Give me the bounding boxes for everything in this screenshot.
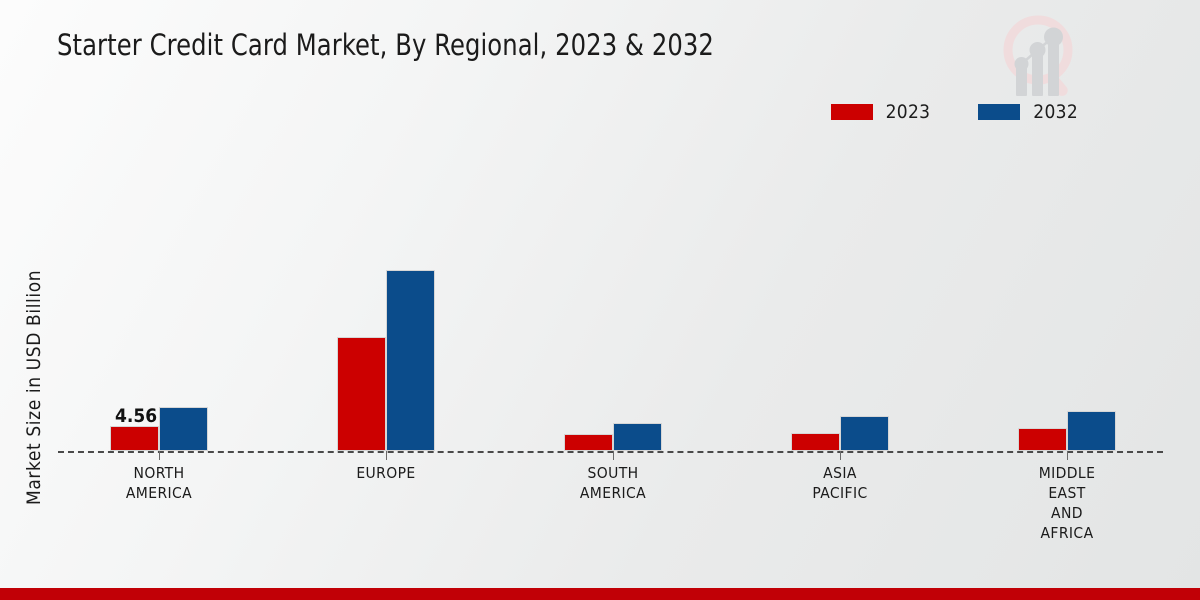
x-axis-baseline	[58, 451, 1163, 453]
x-label-line: PACIFIC	[780, 483, 900, 503]
bar-group-europe	[337, 151, 435, 451]
bar-group-south-america	[564, 151, 662, 451]
x-label-europe: EUROPE	[326, 463, 446, 483]
bar-group-middle-east-and-africa	[1018, 151, 1116, 451]
x-tick-europe	[386, 451, 387, 460]
x-label-line: AMERICA	[99, 483, 219, 503]
x-label-north-america: NORTH AMERICA	[99, 463, 219, 503]
x-label-line: ASIA	[780, 463, 900, 483]
x-label-line: EUROPE	[326, 463, 446, 483]
x-label-south-america: SOUTH AMERICA	[553, 463, 673, 503]
x-label-line: AMERICA	[553, 483, 673, 503]
bar-asia-pacific-2032[interactable]	[840, 416, 889, 451]
chart-container: Starter Credit Card Market, By Regional,…	[0, 0, 1200, 600]
bar-north-america-2023[interactable]	[110, 426, 159, 451]
x-tick-north-america	[159, 451, 160, 460]
x-label-middle-east-and-africa: MIDDLE EAST AND AFRICA	[1007, 463, 1127, 543]
bar-middle-east-and-africa-2032[interactable]	[1067, 411, 1116, 451]
x-label-line: MIDDLE	[1007, 463, 1127, 483]
bar-europe-2023[interactable]	[337, 337, 386, 451]
x-label-line: AND	[1007, 503, 1127, 523]
plot-area: 4.56 NORTH AMERICA EUROPE SOUTH AME	[0, 0, 1200, 600]
x-label-line: EAST	[1007, 483, 1127, 503]
x-label-line: AFRICA	[1007, 523, 1127, 543]
bar-asia-pacific-2023[interactable]	[791, 433, 840, 451]
bar-south-america-2023[interactable]	[564, 434, 613, 451]
bar-north-america-2032[interactable]	[159, 407, 208, 451]
bar-middle-east-and-africa-2023[interactable]	[1018, 428, 1067, 451]
x-label-line: SOUTH	[553, 463, 673, 483]
value-label-north-america-2023: 4.56	[115, 405, 157, 427]
x-label-asia-pacific: ASIA PACIFIC	[780, 463, 900, 503]
x-tick-asia-pacific	[840, 451, 841, 460]
x-label-line: NORTH	[99, 463, 219, 483]
footer-stripe	[0, 588, 1200, 600]
x-tick-south-america	[613, 451, 614, 460]
bar-europe-2032[interactable]	[386, 270, 435, 451]
bar-group-asia-pacific	[791, 151, 889, 451]
bar-south-america-2032[interactable]	[613, 423, 662, 451]
x-tick-middle-east-and-africa	[1067, 451, 1068, 460]
